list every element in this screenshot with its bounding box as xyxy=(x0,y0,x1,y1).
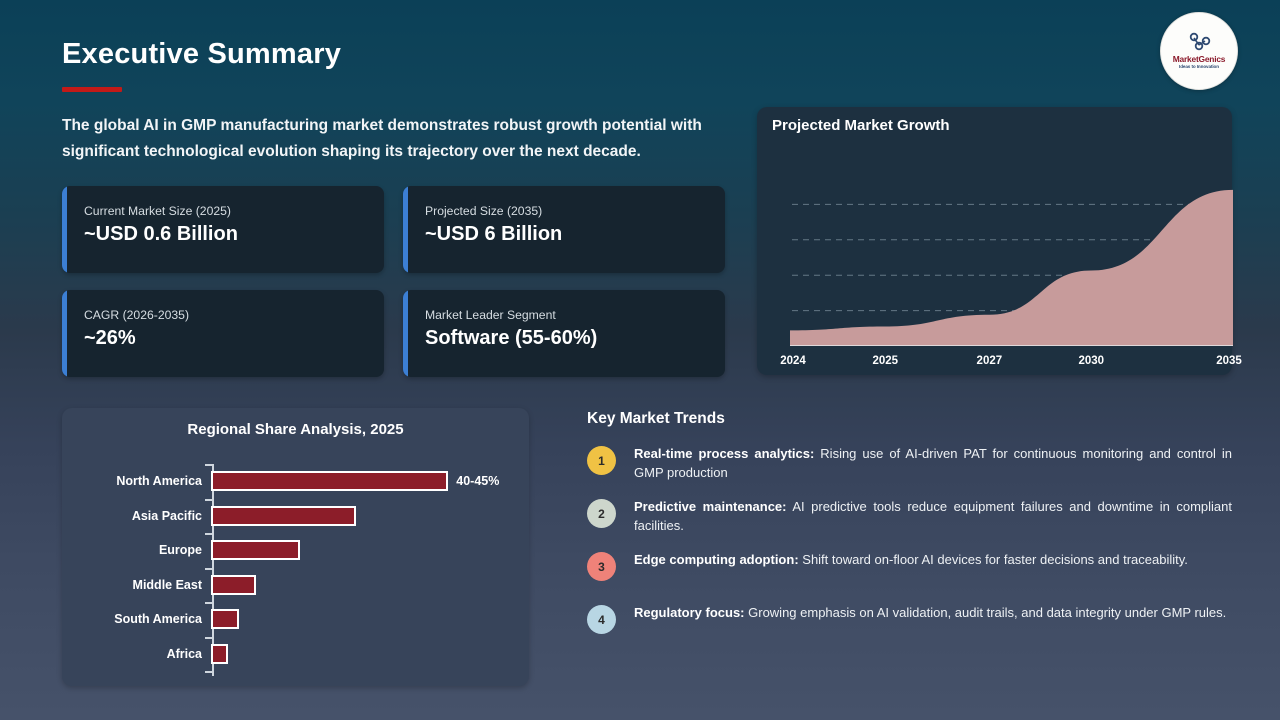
metric-card-cagr: CAGR (2026-2035) ~26% xyxy=(62,290,384,377)
bar-row: South America xyxy=(62,606,529,632)
trend-number-badge: 4 xyxy=(587,605,616,634)
bar-category-label: Middle East xyxy=(62,578,211,592)
metric-card-value: Software (55-60%) xyxy=(425,327,597,350)
bar xyxy=(211,506,356,526)
metric-card-value: ~USD 0.6 Billion xyxy=(84,223,238,246)
trend-lead: Regulatory focus: xyxy=(634,605,745,620)
logo-name: MarketGenics xyxy=(1173,55,1226,64)
bar-row: Asia Pacific xyxy=(62,503,529,529)
trend-text: Regulatory focus: Growing emphasis on AI… xyxy=(634,603,1232,622)
bar-axis-tick xyxy=(205,671,213,673)
metric-card-label: Projected Size (2035) xyxy=(425,204,542,218)
key-market-trends: Key Market Trends 1Real-time process ana… xyxy=(587,410,1232,656)
trend-item: 3Edge computing adoption: Shift toward o… xyxy=(587,550,1232,592)
growth-area-chart xyxy=(790,169,1233,346)
bar-row: Europe xyxy=(62,537,529,563)
growth-x-tick-label: 2027 xyxy=(977,355,1003,367)
trend-item: 4Regulatory focus: Growing emphasis on A… xyxy=(587,603,1232,645)
bar-row: Middle East xyxy=(62,572,529,598)
metric-card-value: ~USD 6 Billion xyxy=(425,223,562,246)
trend-lead: Real-time process analytics: xyxy=(634,446,814,461)
trends-title: Key Market Trends xyxy=(587,410,1232,428)
growth-x-tick-label: 2025 xyxy=(872,355,898,367)
bar-category-label: Asia Pacific xyxy=(62,509,211,523)
bar-category-label: Africa xyxy=(62,647,211,661)
metric-card-current-market-size: Current Market Size (2025) ~USD 0.6 Bill… xyxy=(62,186,384,273)
trend-text: Edge computing adoption: Shift toward on… xyxy=(634,550,1232,569)
trend-lead: Predictive maintenance: xyxy=(634,499,787,514)
bar xyxy=(211,644,228,664)
regional-chart-title: Regional Share Analysis, 2025 xyxy=(62,421,529,438)
bar-category-label: South America xyxy=(62,612,211,626)
bar-axis-tick xyxy=(205,464,213,466)
trend-lead: Edge computing adoption: xyxy=(634,552,799,567)
bar-category-label: North America xyxy=(62,474,211,488)
growth-x-tick-label: 2024 xyxy=(780,355,806,367)
trend-text: Predictive maintenance: AI predictive to… xyxy=(634,497,1232,535)
bar-category-label: Europe xyxy=(62,543,211,557)
bar-track: 40-45% xyxy=(211,468,529,494)
bar xyxy=(211,575,256,595)
slide-root: Executive Summary The global AI in GMP m… xyxy=(0,0,1280,720)
growth-x-tick-label: 2035 xyxy=(1216,355,1242,367)
bar-axis-tick xyxy=(205,533,213,535)
page-subtitle: The global AI in GMP manufacturing marke… xyxy=(62,113,752,165)
bar xyxy=(211,540,300,560)
growth-chart-svg xyxy=(790,169,1233,346)
bar-value-label: 40-45% xyxy=(456,474,499,488)
bar-track xyxy=(211,606,529,632)
metric-card-market-leader-segment: Market Leader Segment Software (55-60%) xyxy=(403,290,725,377)
bar-axis-tick xyxy=(205,637,213,639)
bar-track xyxy=(211,572,529,598)
trends-list: 1Real-time process analytics: Rising use… xyxy=(587,444,1232,645)
trend-item: 1Real-time process analytics: Rising use… xyxy=(587,444,1232,486)
bar-axis-tick xyxy=(205,568,213,570)
bar xyxy=(211,471,448,491)
bar-axis-tick xyxy=(205,602,213,604)
node-graph-icon xyxy=(1186,32,1212,54)
trend-number-badge: 3 xyxy=(587,552,616,581)
trend-text: Real-time process analytics: Rising use … xyxy=(634,444,1232,482)
projected-market-growth-panel: Projected Market Growth 2024202520272030… xyxy=(757,107,1232,375)
regional-share-panel: Regional Share Analysis, 2025 North Amer… xyxy=(62,408,529,686)
growth-area-series xyxy=(790,190,1233,346)
trend-item: 2Predictive maintenance: AI predictive t… xyxy=(587,497,1232,539)
bar xyxy=(211,609,239,629)
trend-number-badge: 2 xyxy=(587,499,616,528)
bar-track xyxy=(211,503,529,529)
metric-card-label: Market Leader Segment xyxy=(425,308,556,322)
metric-card-label: CAGR (2026-2035) xyxy=(84,308,189,322)
bar-axis-tick xyxy=(205,499,213,501)
trend-number-badge: 1 xyxy=(587,446,616,475)
bar-track xyxy=(211,641,529,667)
metric-card-value: ~26% xyxy=(84,327,136,350)
growth-chart-title: Projected Market Growth xyxy=(772,117,950,134)
bar-track xyxy=(211,537,529,563)
growth-chart-x-axis-labels: 20242025202720302035 xyxy=(772,355,1222,371)
growth-x-tick-label: 2030 xyxy=(1078,355,1104,367)
page-title: Executive Summary xyxy=(62,38,341,71)
metric-card-projected-size: Projected Size (2035) ~USD 6 Billion xyxy=(403,186,725,273)
regional-bar-chart: North America40-45%Asia PacificEuropeMid… xyxy=(62,458,529,680)
bar-row: North America40-45% xyxy=(62,468,529,494)
bar-row: Africa xyxy=(62,641,529,667)
metric-card-label: Current Market Size (2025) xyxy=(84,204,231,218)
logo-tagline: Ideas to Innovation xyxy=(1179,64,1219,70)
title-underline xyxy=(62,87,122,92)
brand-logo: MarketGenics Ideas to Innovation xyxy=(1160,12,1238,90)
